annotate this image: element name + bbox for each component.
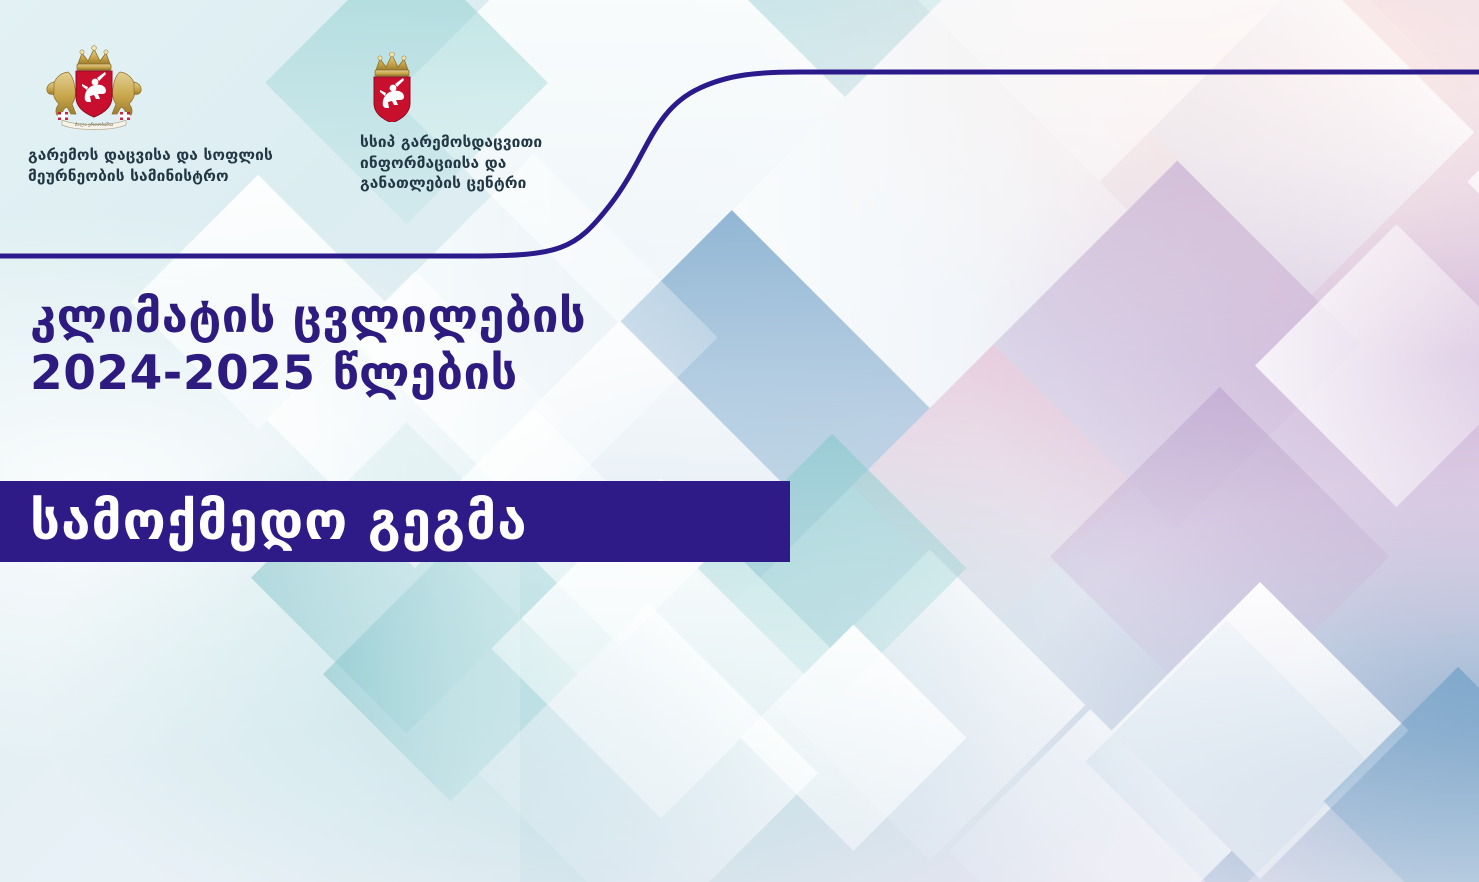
georgia-shield-crown-icon — [364, 52, 610, 126]
action-plan-badge-label: სამოქმედო გეგმა — [30, 495, 528, 548]
svg-text:ძალა ერთობაშია: ძალა ერთობაშია — [75, 121, 114, 128]
action-plan-badge: სამოქმედო გეგმა — [0, 481, 790, 562]
report-cover: ძალა ერთობაშია გარემოს დაცვისა და სოფლის… — [0, 0, 1479, 882]
organization-name-ministry: გარემოს დაცვისა და სოფლის მეურნეობის სამ… — [28, 145, 328, 186]
georgia-coat-of-arms-icon: ძალა ერთობაშია — [38, 42, 328, 138]
title-line-2: 2024-2025 წლების — [30, 345, 586, 402]
organization-name-center: სსიპ გარემოსდაცვითი ინფორმაციისა და განა… — [360, 132, 610, 194]
organization-ministry: ძალა ერთობაშია გარემოს დაცვისა და სოფლის… — [28, 42, 328, 186]
cover-title: კლიმატის ცვლილების 2024-2025 წლების — [30, 288, 586, 403]
title-line-1: კლიმატის ცვლილების — [30, 288, 586, 345]
organization-center: სსიპ გარემოსდაცვითი ინფორმაციისა და განა… — [360, 52, 610, 194]
